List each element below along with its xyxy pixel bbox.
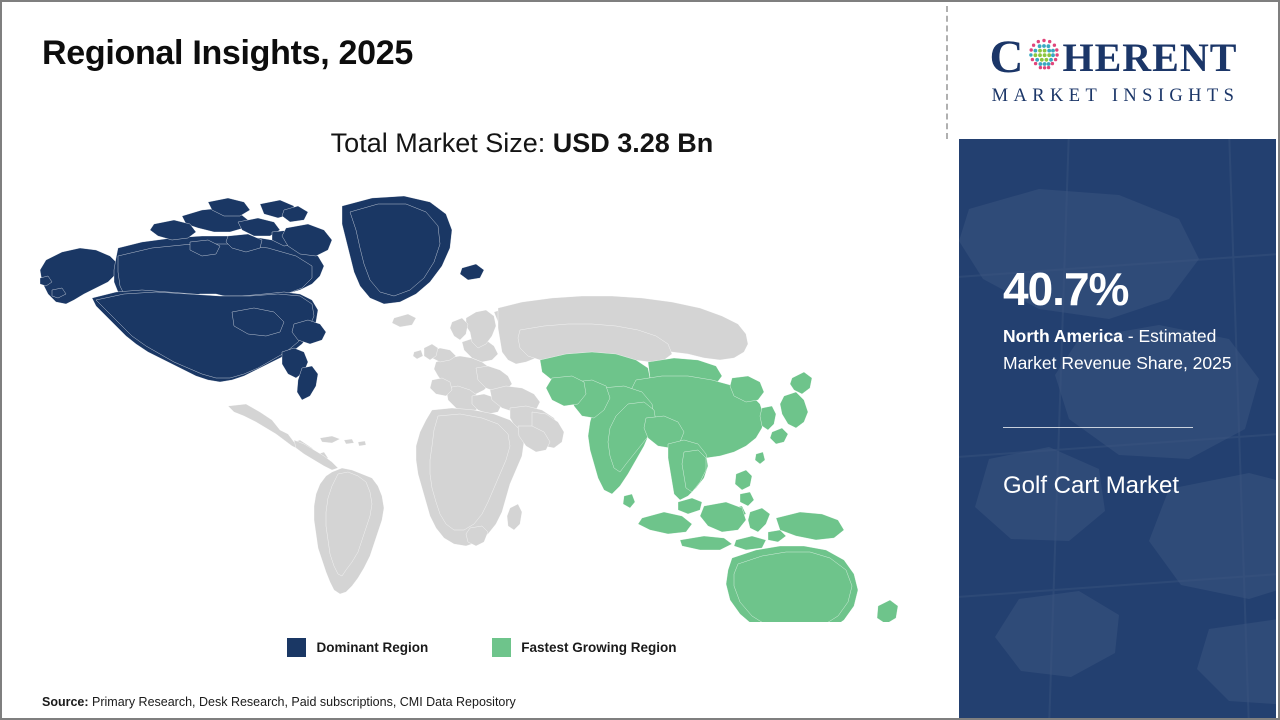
globe-dots-icon [1026,36,1062,79]
brand-tagline: MARKET INSIGHTS [988,86,1240,107]
stat-market-name: Golf Cart Market [1003,469,1233,503]
source-label: Source: [42,695,89,709]
stat-divider-rule [1003,427,1193,428]
page-title: Regional Insights, 2025 [42,34,413,73]
stat-content: 40.7% North America - Estimated Market R… [1003,139,1253,720]
world-map [32,182,912,622]
total-market-size: Total Market Size: USD 3.28 Bn [2,128,942,159]
brand-logo: C [951,2,1276,139]
vertical-dashed-divider [946,6,948,139]
source-text: Primary Research, Desk Research, Paid su… [89,695,516,709]
stat-description: North America - Estimated Market Revenue… [1003,323,1265,376]
map-legend: Dominant Region Fastest Growing Region [2,638,942,657]
legend-label-dominant: Dominant Region [316,640,428,655]
stat-panel: 40.7% North America - Estimated Market R… [959,139,1276,720]
brand-wordmark: C [990,34,1238,81]
stat-percentage: 40.7% [1003,266,1128,312]
brand-name-end: HERENT [1063,38,1238,78]
legend-item-dominant: Dominant Region [287,638,428,657]
map-region-asia-pacific [540,352,906,622]
brand-name-start: C [990,34,1025,81]
legend-swatch-growing-icon [492,638,511,657]
market-size-label: Total Market Size: [331,128,553,158]
source-footnote: Source: Primary Research, Desk Research,… [42,695,516,709]
map-region-north-america [40,196,484,400]
legend-label-fastest-growing: Fastest Growing Region [521,640,676,655]
legend-swatch-dominant-icon [287,638,306,657]
world-map-svg [32,182,912,622]
regional-insights-infographic: Regional Insights, 2025 Total Market Siz… [0,0,1280,720]
market-size-value: USD 3.28 Bn [553,128,714,158]
right-panel: C [951,2,1276,718]
left-content-pane: Regional Insights, 2025 Total Market Siz… [2,2,942,718]
legend-item-fastest-growing: Fastest Growing Region [492,638,676,657]
stat-region-name: North America [1003,326,1123,346]
